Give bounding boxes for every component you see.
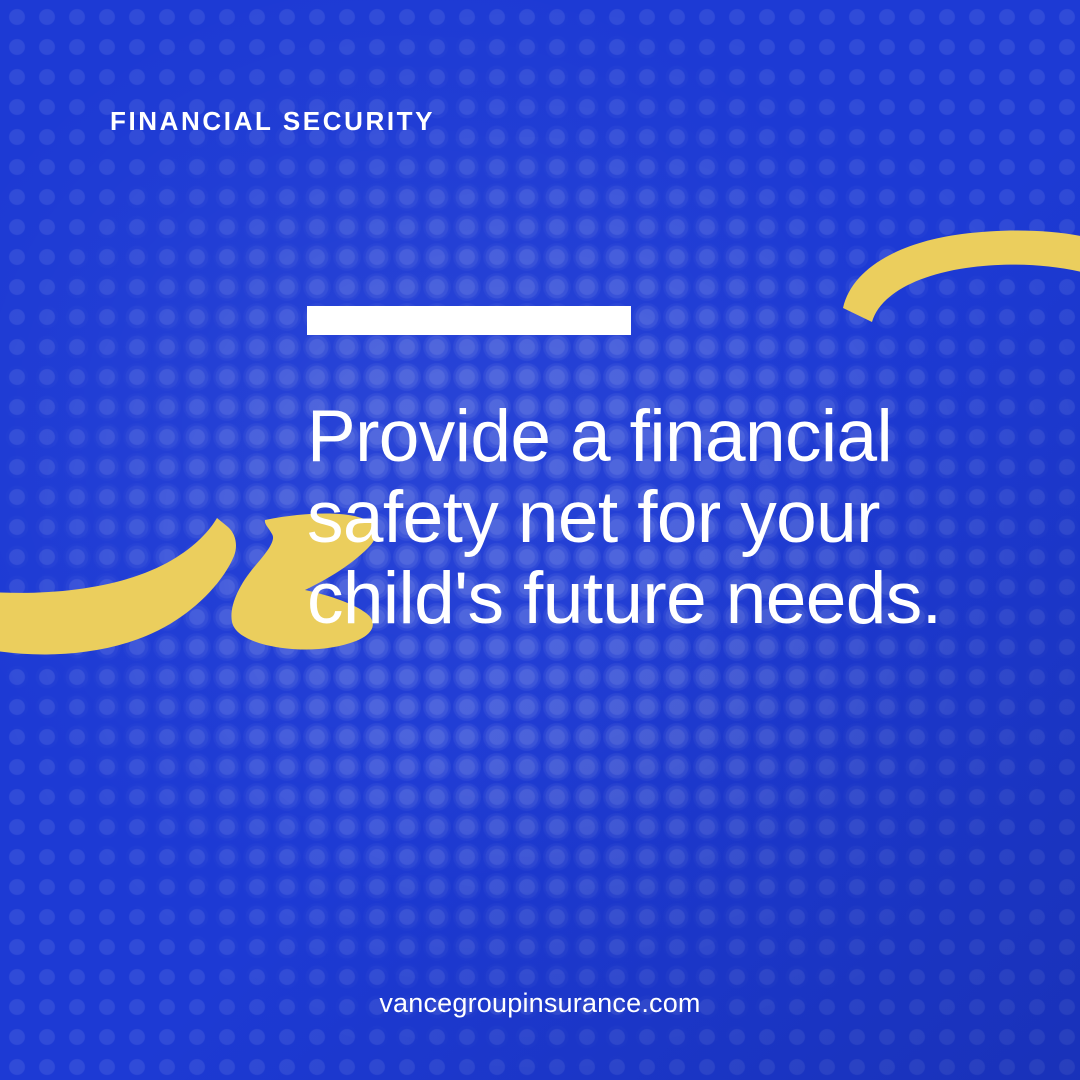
headline-line-1: Provide a financial (307, 396, 1007, 477)
website-url[interactable]: vancegroupinsurance.com (0, 988, 1080, 1019)
white-divider-bar (307, 306, 631, 335)
curved-swoosh-icon (843, 231, 1080, 322)
curved-arrow-icon (0, 518, 236, 654)
social-post-canvas: FINANCIAL SECURITY Provide a financial s… (0, 0, 1080, 1080)
eyebrow-label: FINANCIAL SECURITY (110, 108, 435, 134)
headline: Provide a financial safety net for your … (307, 396, 1007, 639)
headline-line-2: safety net for your (307, 477, 1007, 558)
headline-line-3: child's future needs. (307, 558, 1007, 639)
